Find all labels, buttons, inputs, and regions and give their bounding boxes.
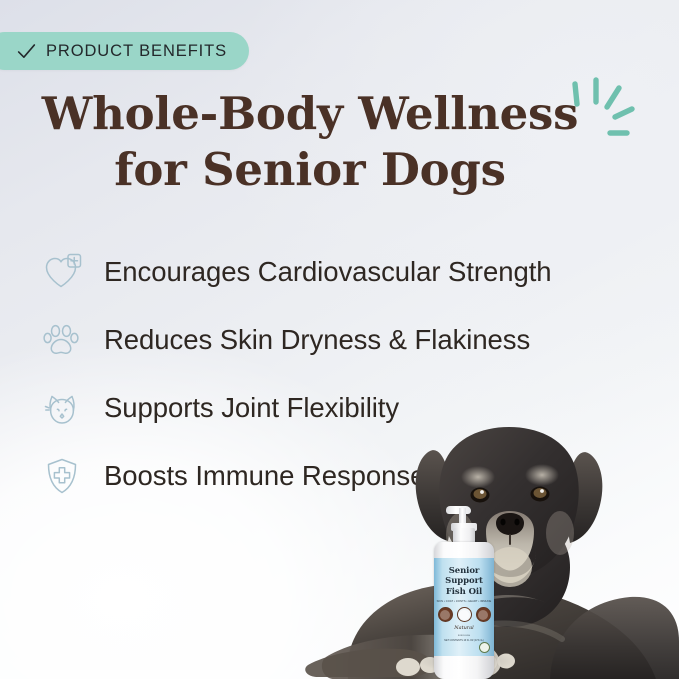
senior-support-fish-oil-bottle: Senior Support Fish Oil SKIN • COAT • JO… xyxy=(428,506,500,679)
label-line1: Senior xyxy=(445,566,483,576)
joint-badge xyxy=(476,607,491,622)
skin-coat-badge xyxy=(438,607,453,622)
organic-seal-icon xyxy=(479,642,490,653)
benefit-label: Encourages Cardiovascular Strength xyxy=(104,256,552,288)
shield-cross-icon xyxy=(40,454,84,498)
product-benefits-badge: PRODUCT BENEFITS xyxy=(0,32,249,70)
label-line3: Fish Oil xyxy=(445,587,483,597)
label-fine-print: FOR DOGS xyxy=(458,635,470,637)
label-subtitle: SKIN • COAT • JOINTS • HEART • IMMUNE xyxy=(437,600,492,603)
label-net-contents: NET CONTENTS 16 FL OZ (473 mL) xyxy=(444,639,483,642)
dog-badge xyxy=(457,607,472,622)
label-badge-row xyxy=(438,607,491,622)
badge-label: PRODUCT BENEFITS xyxy=(46,42,227,61)
heart-plus-icon xyxy=(40,250,84,294)
dog-face-icon xyxy=(40,386,84,430)
benefit-item-cardiovascular: Encourages Cardiovascular Strength xyxy=(40,238,640,306)
check-icon xyxy=(16,41,37,62)
label-line2: Support xyxy=(445,576,483,586)
page-title: Whole-Body Wellness for Senior Dogs xyxy=(0,86,620,198)
paw-print-icon xyxy=(40,318,84,362)
sparkle-burst-icon xyxy=(563,76,635,152)
page-title-line1: Whole-Body Wellness xyxy=(0,86,620,142)
benefit-label: Reduces Skin Dryness & Flakiness xyxy=(104,324,530,356)
benefit-item-skin: Reduces Skin Dryness & Flakiness xyxy=(40,306,640,374)
label-script: Natural xyxy=(454,625,474,631)
bottle-label: Senior Support Fish Oil SKIN • COAT • JO… xyxy=(434,558,494,656)
page-title-line2: for Senior Dogs xyxy=(0,142,620,198)
product-benefits-graphic: PRODUCT BENEFITS Whole-Body Wellness for… xyxy=(0,0,679,679)
